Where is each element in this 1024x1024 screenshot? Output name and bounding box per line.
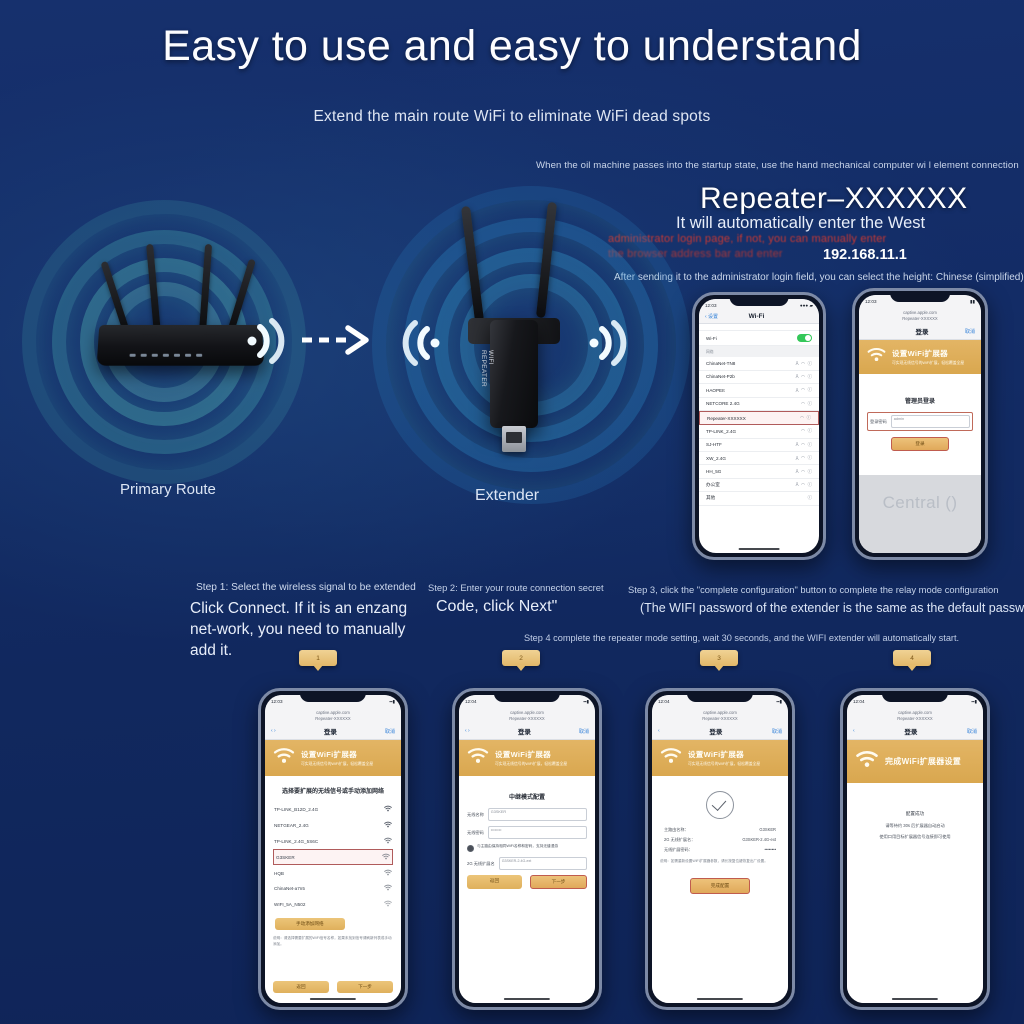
- wifi-strength-icon: ◠: [801, 482, 805, 488]
- phone-screen: 12:04 ▪▪▮ captive.apple.com Repeater-XXX…: [847, 695, 983, 1003]
- step-4-caption: Step 4 complete the repeater mode settin…: [524, 633, 959, 643]
- network-note: 说明：请选择需要扩展的WiFi信号名称，如果未找到信号请刷新列表或手动添加。: [273, 936, 393, 947]
- info-icon[interactable]: ⓘ: [808, 495, 812, 501]
- wifi-network-ssid: HH_5G: [706, 469, 721, 474]
- network-option-ssid: HQB: [274, 871, 284, 876]
- lock-icon: Å: [796, 469, 799, 474]
- phone-setup-finished: 12:04 ▪▪▮ captive.apple.com Repeater-XXX…: [840, 688, 990, 1010]
- wifi-network-row[interactable]: TP-LINK_2.4G◠ⓘ: [699, 425, 819, 438]
- wifi-row-icons: ◠ⓘ: [801, 428, 812, 434]
- info-icon[interactable]: ⓘ: [808, 469, 812, 475]
- info-icon[interactable]: ⓘ: [808, 428, 812, 434]
- wifi-strength-icon: [384, 837, 392, 846]
- status-indicators: ▪▪▮: [776, 699, 782, 705]
- phone-notch: [882, 691, 948, 702]
- wifi-extender-header: 设置WiFi扩展器 可实现无线信号的WiFi扩展，轻松覆盖全屋: [652, 740, 788, 776]
- summary-row: 主路由名称：G3SKER: [664, 827, 776, 833]
- phone-config-success: 12:04 ▪▪▮ captive.apple.com Repeater-XXX…: [645, 688, 795, 1010]
- primary-route-label: Primary Route: [120, 480, 240, 499]
- network-option-row[interactable]: TP-LINK_B12D_2.4G: [273, 802, 393, 818]
- url-subtitle: Repeater-XXXXXX: [859, 316, 981, 322]
- wifi-row-icons: ⓘ: [808, 495, 812, 501]
- same-ssid-checkbox-row[interactable]: 与主路由保持相同WiFi名称和密码，支持无缝漫游: [467, 844, 587, 852]
- network-option-ssid: TP-LINK_2.4G_5S6C: [274, 839, 318, 844]
- home-indicator: [504, 998, 550, 1000]
- phone-notch: [300, 691, 366, 702]
- wifi-network-row[interactable]: NETCORE 2.4G◠ⓘ: [699, 398, 819, 411]
- next-button[interactable]: 下一步: [530, 875, 587, 889]
- browser-back[interactable]: ‹: [853, 728, 855, 734]
- cancel-button[interactable]: 取消: [967, 728, 977, 735]
- url-subtitle: Repeater-XXXXXX: [459, 716, 595, 722]
- page-subtitle: Extend the main route WiFi to eliminate …: [0, 108, 1024, 126]
- password-input[interactable]: ••••••••: [488, 826, 587, 839]
- phone-notch: [890, 291, 950, 302]
- url-bar[interactable]: captive.apple.com Repeater-XXXXXX: [265, 708, 401, 725]
- wifi-network-ssid: NETCORE 2.4G: [706, 401, 740, 406]
- summary-label: 2G 无线扩展名：: [664, 837, 695, 843]
- wifi-strength-icon: ◠: [801, 361, 805, 367]
- wifi-strength-icon: ◠: [801, 387, 805, 393]
- wifi-network-row[interactable]: 办公室Å◠ⓘ: [699, 479, 819, 492]
- wifi-row-icons: ◠ⓘ: [800, 415, 811, 421]
- browser-back-forward[interactable]: ‹ ›: [271, 728, 276, 734]
- wifi-strength-icon: ◠: [800, 415, 804, 421]
- wifi-signal-icon: [273, 747, 295, 769]
- ip-address: 192.168.11.1: [823, 247, 907, 263]
- step-1-caption: Step 1: Select the wireless signal to be…: [196, 582, 416, 593]
- info-icon[interactable]: ⓘ: [808, 482, 812, 488]
- status-time: 12:04: [658, 699, 670, 704]
- wifi-signal-icon: [660, 747, 682, 769]
- wifi-strength-icon: ◠: [801, 401, 805, 407]
- wifi-row-icons: Å◠ⓘ: [796, 387, 812, 393]
- info-icon[interactable]: ⓘ: [808, 455, 812, 461]
- header-subtitle: 可实现无线信号的WiFi扩展，轻松覆盖全屋: [892, 361, 964, 366]
- wifi-toggle-switch[interactable]: [797, 334, 812, 342]
- wifi-network-row[interactable]: 其他ⓘ: [699, 492, 819, 505]
- step-3-caption: Step 3, click the "complete configuratio…: [628, 584, 998, 595]
- home-indicator: [739, 548, 780, 550]
- router-wifi-arcs-icon: [246, 318, 302, 364]
- wifi-network-ssid: SJ-HTF: [706, 442, 722, 447]
- header-title: 设置WiFi扩展器: [688, 749, 760, 760]
- header-title: 设置WiFi扩展器: [301, 749, 373, 760]
- summary-row: 无线扩展密码：••••••••: [664, 847, 776, 853]
- nav-title: 登录: [904, 726, 917, 736]
- back-button[interactable]: 返回: [467, 875, 522, 889]
- phone-screen: 12:04 ▪▪▮ captive.apple.com Repeater-XXX…: [652, 695, 788, 1003]
- step-2-detail: Code, click Next": [436, 598, 557, 616]
- password-label: 无线密码: [467, 830, 484, 836]
- header-subtitle: 可实现无线信号的WiFi扩展，轻松覆盖全屋: [495, 762, 567, 767]
- keyboard-panel: [859, 475, 981, 553]
- url-bar[interactable]: captive.apple.com Repeater-XXXXXX: [859, 308, 981, 325]
- wifi-signal-icon: [855, 750, 879, 773]
- networks-section-label: 网络: [699, 346, 819, 357]
- password-label: 登录密码: [870, 419, 887, 425]
- nav-bar: ‹ 登录 取消: [652, 725, 788, 740]
- finished-body: 配置成功 请等待约 30s 后扩展器自动启动 使用口用目标扩展器信号连接即可使用: [847, 783, 983, 1003]
- summary-value: G3SKER: [759, 827, 776, 833]
- success-note: 说明：如需重新设置WiFi扩展器参数，请长按复位键恢复出厂设置。: [660, 859, 780, 864]
- nav-title: 登录: [915, 326, 928, 336]
- info-icon[interactable]: ⓘ: [808, 401, 812, 407]
- lock-icon: Å: [796, 482, 799, 487]
- wifi-network-ssid: 其他: [706, 495, 715, 501]
- network-option-row[interactable]: NETGEAR_2.4G: [273, 818, 393, 834]
- wifi-extender-header: 设置WiFi扩展器 可实现无线信号的WiFi扩展，轻松覆盖全屋: [265, 740, 401, 776]
- network-selection-body: 选择要扩展的无线信号或手动添加网络 TP-LINK_B12D_2.4GNETGE…: [265, 776, 401, 1003]
- wifi-row-icons: Å◠ⓘ: [796, 361, 812, 367]
- summary-value: ••••••••: [765, 847, 776, 853]
- lock-icon: Å: [796, 374, 799, 379]
- network-option-row[interactable]: G3SKER: [273, 849, 393, 865]
- success-body: 主路由名称：G3SKER2G 无线扩展名：G3SKER-2.4G-ext无线扩展…: [652, 776, 788, 1003]
- status-indicators: ▪▪▮: [971, 699, 977, 705]
- status-indicators: ●●● ▰: [800, 303, 813, 309]
- login-submit-button[interactable]: 登录: [891, 437, 948, 451]
- wifi-network-row[interactable]: XW_2.4GÅ◠ⓘ: [699, 452, 819, 465]
- wifi-row-icons: Å◠ⓘ: [796, 374, 812, 380]
- extender-body: [490, 320, 538, 428]
- extender-usb-connector: [502, 426, 526, 452]
- wifi-network-row[interactable]: ChinaNet-TN8Å◠ⓘ: [699, 357, 819, 370]
- network-option-row[interactable]: WIFI_5A_N502: [273, 897, 393, 913]
- status-indicators: ▪▪▮: [583, 699, 589, 705]
- phone-screen: 12:03 ●●● ▰ ‹ 设置 Wi-Fi Wi-Fi 网络 ChinaNet…: [699, 299, 819, 553]
- check-circle-icon: [706, 791, 734, 819]
- repeater-config-form: 中继模式配置 无线名称 G3SKER 无线密码 •••••••• 与主路由保持相…: [459, 776, 595, 1003]
- wifi-network-row[interactable]: HAOPEItÅ◠ⓘ: [699, 384, 819, 397]
- phone-screen: 12:03 ▪▪▮ captive.apple.com Repeater-XXX…: [265, 695, 401, 1003]
- step-2-caption: Step 2: Enter your route connection secr…: [428, 582, 604, 593]
- header-subtitle: 可实现无线信号的WiFi扩展，轻松覆盖全屋: [301, 762, 373, 767]
- summary-value: G3SKER-2.4G-ext: [742, 837, 776, 843]
- wifi-strength-icon: ◠: [801, 428, 805, 434]
- phone-notch: [494, 691, 560, 702]
- status-indicators: ▮▮: [970, 299, 975, 305]
- header-title: 完成WiFi扩展器设置: [885, 756, 961, 767]
- wifi-row-icons: Å◠ⓘ: [796, 482, 812, 488]
- network-options-list[interactable]: TP-LINK_B12D_2.4GNETGEAR_2.4GTP-LINK_2.4…: [273, 802, 393, 912]
- url-subtitle: Repeater-XXXXXX: [652, 716, 788, 722]
- wifi-network-list[interactable]: ChinaNet-TN8Å◠ⓘChinaNet-P2bÅ◠ⓘHAOPEItA…: [699, 357, 819, 553]
- header-subtitle: 可实现无线信号的WiFi扩展，轻松覆盖全屋: [688, 762, 760, 767]
- step-badge-2: 2: [502, 650, 540, 666]
- finished-line-3: 使用口用目标扩展器信号连接即可使用: [855, 834, 975, 840]
- wifi-network-ssid: TP-LINK_2.4G: [706, 429, 736, 434]
- ssid-label: 无线名称: [467, 812, 484, 818]
- nav-title: 登录: [518, 726, 531, 736]
- phone-repeater-config: 12:04 ▪▪▮ captive.apple.com Repeater-XXX…: [452, 688, 602, 1010]
- ssid-field-row[interactable]: 无线名称 G3SKER: [467, 808, 587, 821]
- nav-bar: ‹ › 登录 取消: [265, 725, 401, 740]
- cancel-button[interactable]: 取消: [772, 728, 782, 735]
- router-led-indicators: [130, 354, 203, 357]
- wifi-extender-header: 设置WiFi扩展器 可实现无线信号的WiFi扩展，轻松覆盖全屋: [459, 740, 595, 776]
- summary-label: 无线扩展密码：: [664, 847, 693, 853]
- phone-notch: [730, 295, 789, 306]
- summary-label: 主路由名称：: [664, 827, 689, 833]
- info-icon[interactable]: ⓘ: [808, 374, 812, 380]
- complete-config-button[interactable]: 完成配置: [690, 878, 750, 894]
- status-time: 12:03: [271, 699, 283, 704]
- phone-notch: [687, 691, 753, 702]
- phone-wifi-settings: 12:03 ●●● ▰ ‹ 设置 Wi-Fi Wi-Fi 网络 ChinaNet…: [692, 292, 826, 560]
- wifi-row-icons: ◠ⓘ: [801, 401, 812, 407]
- watermark-text: Central (): [859, 493, 981, 513]
- lock-icon: Å: [796, 442, 799, 447]
- network-option-row[interactable]: ChinaNet-a7n5: [273, 881, 393, 897]
- dashed-arrow-right-icon: [300, 325, 374, 355]
- lock-icon: Å: [796, 388, 799, 393]
- repeater-ssid-name: Repeater–XXXXXX: [700, 182, 968, 216]
- url-subtitle: Repeater-XXXXXX: [265, 716, 401, 722]
- radio-icon[interactable]: [467, 845, 474, 852]
- wifi-network-row[interactable]: Repeater-XXXXXX◠ⓘ: [699, 411, 819, 425]
- back-button[interactable]: ‹ 设置: [705, 313, 718, 320]
- wifi-strength-icon: [384, 884, 392, 893]
- wifi-strength-icon: ◠: [801, 469, 805, 475]
- wifi-row-icons: Å◠ⓘ: [796, 469, 812, 475]
- ext-ssid-input[interactable]: G3SKER-2.4G-ext: [499, 857, 587, 870]
- status-time: 12:03: [705, 303, 717, 308]
- wifi-strength-icon: [382, 853, 390, 862]
- step-badge-4: 4: [893, 650, 931, 666]
- router-body: [97, 325, 265, 366]
- wifi-network-ssid: ChinaNet-TN8: [706, 361, 735, 366]
- wifi-network-row[interactable]: SJ-HTFÅ◠ⓘ: [699, 439, 819, 452]
- page-title: Easy to use and easy to understand: [0, 22, 1024, 71]
- network-option-row[interactable]: HQB: [273, 865, 393, 881]
- success-summary-rows: 主路由名称：G3SKER2G 无线扩展名：G3SKER-2.4G-ext无线扩展…: [660, 827, 780, 853]
- wifi-network-ssid: Repeater-XXXXXX: [707, 416, 746, 421]
- router-antenna-3: [199, 244, 212, 334]
- config-form-title: 中继模式配置: [467, 792, 587, 801]
- home-indicator: [310, 998, 356, 1000]
- wifi-strength-icon: ◠: [801, 455, 805, 461]
- header-title: 设置WiFi扩展器: [495, 749, 567, 760]
- wifi-network-row[interactable]: HH_5GÅ◠ⓘ: [699, 465, 819, 478]
- infographic-canvas: Easy to use and easy to understand Exten…: [0, 0, 1024, 1024]
- status-indicators: ▪▪▮: [389, 699, 395, 705]
- extender-antenna-left: [461, 206, 484, 322]
- cancel-button[interactable]: 取消: [385, 728, 395, 735]
- step-badge-1: 1: [299, 650, 337, 666]
- summary-row: 2G 无线扩展名：G3SKER-2.4G-ext: [664, 837, 776, 843]
- network-option-row[interactable]: TP-LINK_2.4G_5S6C: [273, 834, 393, 850]
- wifi-strength-icon: [384, 805, 392, 814]
- step-3-detail: (The WIFI password of the extender is th…: [640, 601, 1024, 615]
- nav-bar: ‹ › 登录 取消: [459, 725, 595, 740]
- nav-title: Wi-Fi: [749, 313, 765, 320]
- extender-label: Extender: [475, 487, 539, 505]
- auto-enter-text: It will automatically enter the West: [676, 214, 925, 233]
- wifi-row-icons: Å◠ⓘ: [796, 442, 812, 448]
- status-time: 12:04: [853, 699, 865, 704]
- phone-screen: 12:04 ▪▪▮ captive.apple.com Repeater-XXX…: [459, 695, 595, 1003]
- next-button[interactable]: 下一步: [337, 981, 393, 993]
- info-icon[interactable]: ⓘ: [808, 442, 812, 448]
- status-time: 12:03: [865, 299, 877, 304]
- status-time: 12:04: [465, 699, 477, 704]
- nav-bar: ‹ 设置 Wi-Fi: [699, 312, 819, 324]
- ext-ssid-label: 2G 无线扩展名: [467, 861, 495, 867]
- wifi-network-ssid: HAOPEIt: [706, 388, 725, 393]
- nav-bar: 登录 取消: [859, 325, 981, 340]
- info-icon[interactable]: ⓘ: [808, 361, 812, 367]
- phone-select-network: 12:03 ▪▪▮ captive.apple.com Repeater-XXX…: [258, 688, 408, 1010]
- manual-add-network-button[interactable]: 手动添加网络: [275, 918, 345, 930]
- url-subtitle: Repeater-XXXXXX: [847, 716, 983, 722]
- network-option-ssid: NETGEAR_2.4G: [274, 823, 309, 828]
- nav-title: 登录: [709, 726, 722, 736]
- wifi-strength-icon: [384, 900, 392, 909]
- home-indicator: [697, 998, 743, 1000]
- ext-ssid-field-row[interactable]: 2G 无线扩展名 G3SKER-2.4G-ext: [467, 857, 587, 870]
- wifi-toggle-row[interactable]: Wi-Fi: [699, 330, 819, 346]
- wifi-network-ssid: XW_2.4G: [706, 456, 726, 461]
- network-list-title: 选择要扩展的无线信号或手动添加网络: [273, 786, 393, 795]
- url-bar[interactable]: captive.apple.com Repeater-XXXXXX: [847, 708, 983, 725]
- wifi-strength-icon: ◠: [801, 374, 805, 380]
- nav-title: 登录: [324, 726, 337, 736]
- lock-icon: Å: [796, 456, 799, 461]
- wifi-strength-icon: [384, 821, 392, 830]
- network-option-ssid: ChinaNet-a7n5: [274, 886, 305, 891]
- browser-back[interactable]: ‹: [658, 728, 660, 734]
- cancel-button[interactable]: 取消: [579, 728, 589, 735]
- password-input[interactable]: admin: [891, 415, 970, 428]
- lock-icon: Å: [796, 361, 799, 366]
- wifi-strength-icon: [384, 869, 392, 878]
- phone-screen: 12:03 ▮▮ captive.apple.com Repeater-XXXX…: [859, 295, 981, 553]
- wifi-signal-icon: [467, 747, 489, 769]
- wifi-strength-icon: ◠: [801, 442, 805, 448]
- wifi-network-ssid: ChinaNet-P2b: [706, 374, 735, 379]
- finished-line-1: 配置成功: [855, 811, 975, 817]
- wifi-network-ssid: 办公室: [706, 482, 720, 488]
- phone-admin-login: 12:03 ▮▮ captive.apple.com Repeater-XXXX…: [852, 288, 988, 560]
- wifi-extender-header: 完成WiFi扩展器设置: [847, 740, 983, 783]
- header-title: 设置WiFi扩展器: [892, 348, 964, 359]
- checkbox-label: 与主路由保持相同WiFi名称和密码，支持无缝漫游: [477, 844, 558, 849]
- extender-brand-label: WIFI REPEATER: [480, 350, 494, 392]
- ssid-input[interactable]: G3SKER: [488, 808, 587, 821]
- network-option-ssid: WIFI_5A_N502: [274, 902, 305, 907]
- nav-bar: ‹ 登录 取消: [847, 725, 983, 740]
- url-bar[interactable]: captive.apple.com Repeater-XXXXXX: [459, 708, 595, 725]
- wifi-extender-header: 设置WiFi扩展器 可实现无线信号的WiFi扩展，轻松覆盖全屋: [859, 340, 981, 374]
- wifi-toggle-label: Wi-Fi: [706, 336, 717, 341]
- network-option-ssid: G3SKER: [276, 855, 295, 860]
- wifi-signal-icon: [867, 347, 886, 367]
- browser-back-forward[interactable]: ‹ ›: [465, 728, 470, 734]
- back-button[interactable]: 返回: [273, 981, 329, 993]
- wifi-network-row[interactable]: ChinaNet-P2bÅ◠ⓘ: [699, 371, 819, 384]
- info-line-1: When the oil machine passes into the sta…: [536, 160, 1019, 171]
- step-badge-3: 3: [700, 650, 738, 666]
- password-field-row[interactable]: 登录密码 admin: [867, 412, 973, 431]
- extender-antenna-right: [536, 202, 557, 318]
- password-field-row[interactable]: 无线密码 ••••••••: [467, 826, 587, 839]
- cancel-button[interactable]: 取消: [965, 328, 975, 335]
- wifi-row-icons: Å◠ⓘ: [796, 455, 812, 461]
- home-indicator: [892, 998, 938, 1000]
- url-bar[interactable]: captive.apple.com Repeater-XXXXXX: [652, 708, 788, 725]
- finished-line-2: 请等待约 30s 后扩展器自动启动: [855, 823, 975, 829]
- info-icon[interactable]: ⓘ: [807, 415, 811, 421]
- login-form-title: 管理员登录: [867, 396, 973, 405]
- router-antenna-2: [146, 244, 161, 334]
- wifi-extender-device: WIFI REPEATER: [390, 180, 660, 480]
- info-icon[interactable]: ⓘ: [808, 387, 812, 393]
- network-option-ssid: TP-LINK_B12D_2.4G: [274, 807, 318, 812]
